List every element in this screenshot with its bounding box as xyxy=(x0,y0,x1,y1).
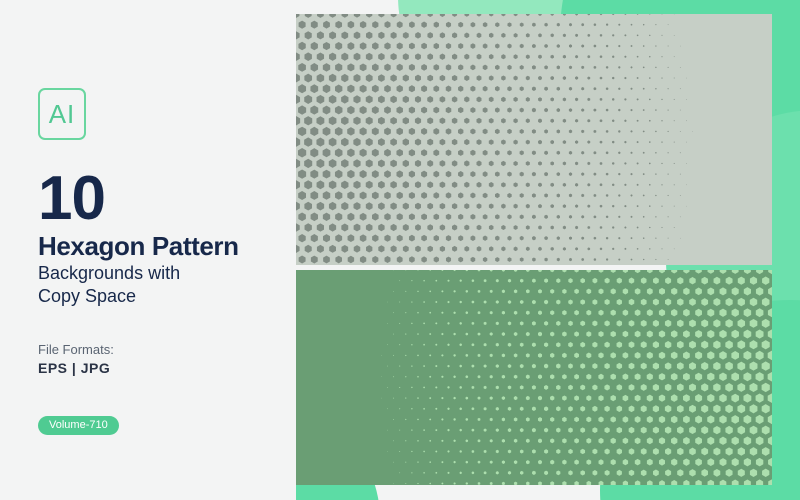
item-count: 10 xyxy=(38,168,105,230)
volume-badge: Volume-710 xyxy=(38,416,119,435)
page-subtitle-line1: Backgrounds with xyxy=(38,262,180,285)
page-subtitle: Backgrounds with Copy Space xyxy=(38,262,180,307)
info-column: AI 10 Hexagon Pattern Backgrounds with C… xyxy=(38,0,288,500)
volume-badge-label: Volume-710 xyxy=(49,420,108,431)
file-formats-label: File Formats: xyxy=(38,343,114,356)
preview-canvas: AI 10 Hexagon Pattern Backgrounds with C… xyxy=(0,0,800,500)
hexagon-halftone-green xyxy=(296,270,772,485)
ai-badge-label: AI xyxy=(49,101,76,127)
hexagon-halftone-light xyxy=(296,14,772,265)
page-title: Hexagon Pattern xyxy=(38,233,239,259)
file-formats-value: EPS | JPG xyxy=(38,361,110,375)
hexagon-pattern-preview-light[interactable] xyxy=(296,14,772,265)
page-subtitle-line2: Copy Space xyxy=(38,285,180,308)
adobe-illustrator-icon: AI xyxy=(38,88,86,140)
hexagon-pattern-preview-green[interactable] xyxy=(296,270,772,485)
